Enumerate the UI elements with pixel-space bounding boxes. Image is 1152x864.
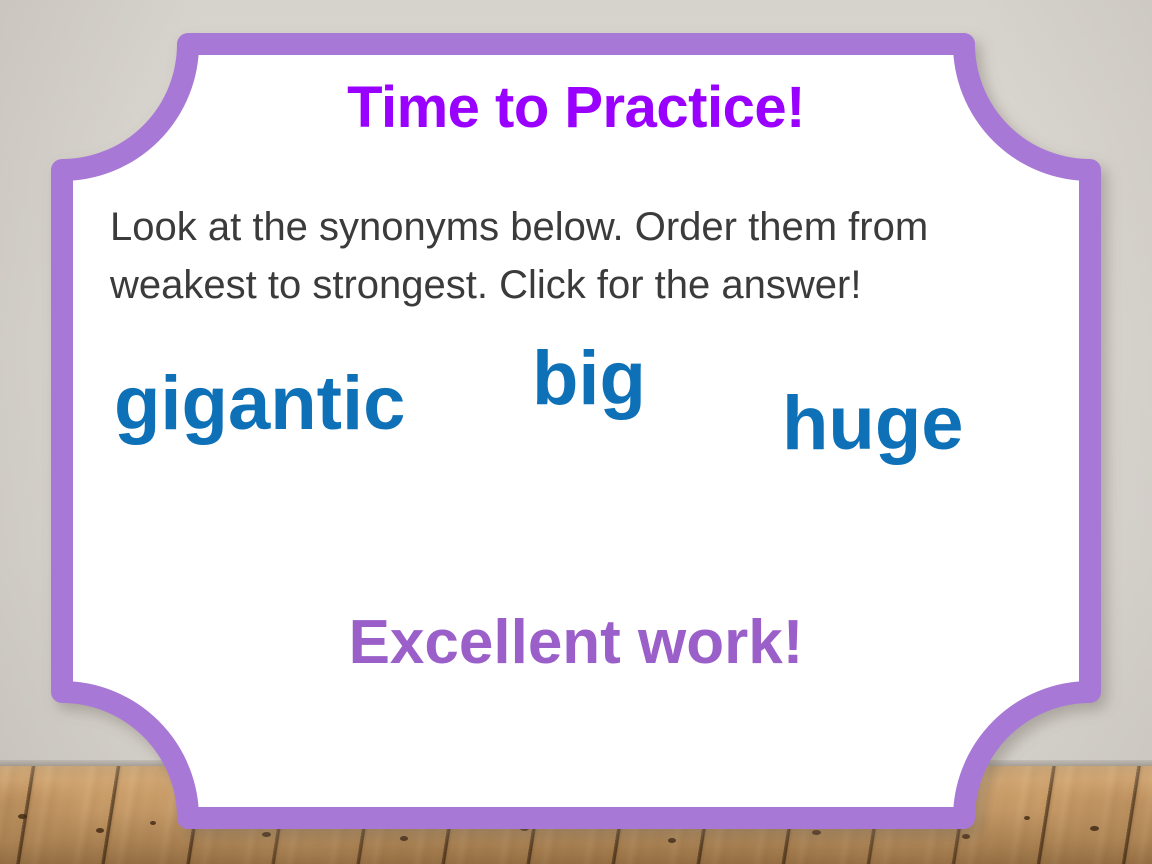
synonym-word-huge[interactable]: huge xyxy=(782,386,964,462)
synonym-word-gigantic[interactable]: gigantic xyxy=(114,366,405,442)
slide-content: Time to Practice! Look at the synonyms b… xyxy=(0,0,1152,864)
page-title: Time to Practice! xyxy=(96,78,1056,138)
slide-canvas: Time to Practice! Look at the synonyms b… xyxy=(0,0,1152,864)
praise-message: Excellent work! xyxy=(96,612,1056,674)
synonym-word-big[interactable]: big xyxy=(532,341,646,417)
instructions-text: Look at the synonyms below. Order them f… xyxy=(110,198,990,315)
